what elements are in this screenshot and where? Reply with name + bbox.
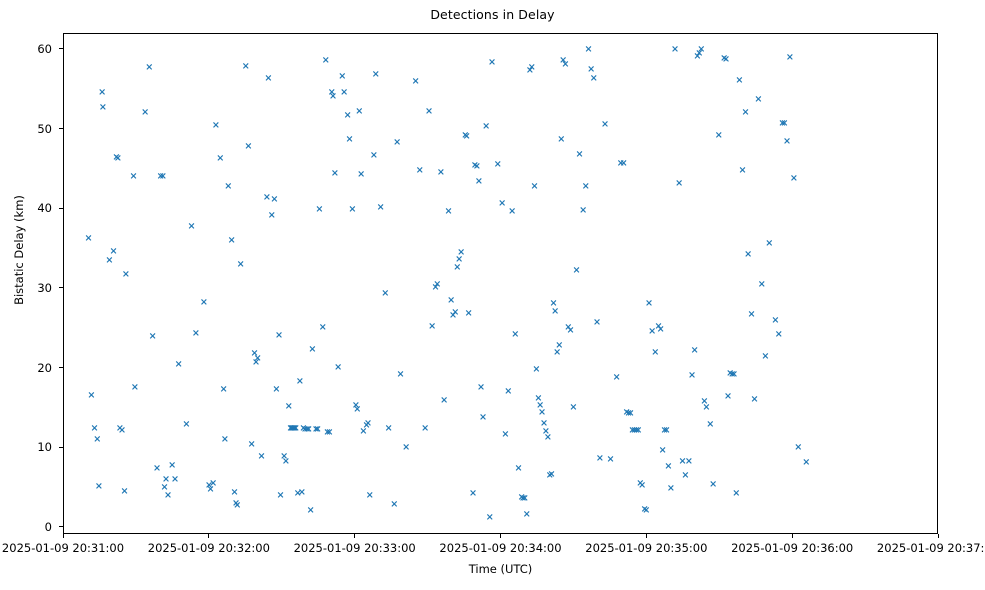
scatter-point: × [256, 364, 257, 365]
scatter-point: × [798, 448, 799, 449]
scatter-point: × [415, 83, 416, 84]
scatter-point: × [477, 168, 478, 169]
x-tick-mark [208, 534, 209, 538]
scatter-point: × [272, 216, 273, 217]
scatter-point: × [726, 60, 727, 61]
scatter-point: × [481, 388, 482, 389]
scatter-point: × [246, 67, 247, 68]
scatter-point: × [532, 68, 533, 69]
scatter-point: × [312, 350, 313, 351]
scatter-point: × [769, 244, 770, 245]
scatter-point: × [406, 448, 407, 449]
scatter-point: × [787, 142, 788, 143]
scatter-point: × [118, 159, 119, 160]
scatter-point: × [361, 176, 362, 177]
scatter-point: × [168, 497, 169, 498]
scatter-point: × [765, 357, 766, 358]
scatter-point: × [662, 451, 663, 452]
scatter-point: × [468, 314, 469, 315]
scatter-point: × [588, 51, 589, 52]
scatter-point: × [237, 506, 238, 507]
scatter-point: × [512, 212, 513, 213]
x-tick-mark [354, 534, 355, 538]
scatter-point: × [420, 172, 421, 173]
scatter-point: × [347, 117, 348, 118]
scatter-point: × [437, 285, 438, 286]
scatter-point: × [394, 506, 395, 507]
x-axis-label: Time (UTC) [63, 562, 938, 576]
scatter-point: × [329, 433, 330, 434]
scatter-point: × [429, 113, 430, 114]
scatter-point: × [124, 493, 125, 494]
scatter-point: × [565, 65, 566, 66]
scatter-point: × [483, 418, 484, 419]
scatter-point: × [668, 467, 669, 468]
x-tick-mark [646, 534, 647, 538]
scatter-point: × [257, 359, 258, 360]
scatter-point: × [333, 98, 334, 99]
scatter-point: × [457, 268, 458, 269]
scatter-point: × [448, 212, 449, 213]
scatter-point: × [502, 204, 503, 205]
scatter-point: × [376, 75, 377, 76]
scatter-point: × [542, 413, 543, 414]
scatter-point: × [302, 494, 303, 495]
scatter-point: × [555, 313, 556, 314]
scatter-point: × [660, 330, 661, 331]
scatter-point: × [368, 424, 369, 425]
scatter-point: × [706, 408, 707, 409]
y-tick-mark [59, 526, 63, 527]
scatter-point: × [91, 396, 92, 397]
scatter-point: × [191, 228, 192, 229]
scatter-point: × [624, 165, 625, 166]
scatter-point: × [300, 383, 301, 384]
scatter-point: × [790, 58, 791, 59]
scatter-point: × [326, 61, 327, 62]
x-tick-label: 2025-01-09 20:33:00 [294, 541, 416, 555]
x-tick-mark [63, 534, 64, 538]
scatter-point: × [467, 138, 468, 139]
scatter-point: × [309, 431, 310, 432]
scatter-point: × [536, 370, 537, 371]
scatter-point: × [605, 126, 606, 127]
scatter-point: × [99, 487, 100, 488]
scatter-point: × [213, 485, 214, 486]
scatter-point: × [204, 303, 205, 304]
x-tick-label: 2025-01-09 20:32:00 [148, 541, 270, 555]
scatter-point: × [518, 470, 519, 471]
scatter-point: × [228, 188, 229, 189]
scatter-point: × [231, 241, 232, 242]
scatter-point: × [675, 51, 676, 52]
scatter-point: × [583, 212, 584, 213]
scatter-point: × [133, 177, 134, 178]
scatter-point: × [344, 94, 345, 95]
scatter-point: × [240, 266, 241, 267]
scatter-point: × [505, 435, 506, 436]
scatter-point: × [751, 315, 752, 316]
scatter-point: × [616, 379, 617, 380]
scatter-point: × [570, 331, 571, 332]
scatter-point: × [806, 463, 807, 464]
scatter-point: × [186, 425, 187, 426]
scatter-point: × [748, 255, 749, 256]
scatter-point: × [109, 262, 110, 263]
scatter-point: × [349, 141, 350, 142]
x-tick-label: 2025-01-09 20:35:00 [585, 541, 707, 555]
scatter-point: × [210, 490, 211, 491]
scatter-point: × [784, 125, 785, 126]
scatter-point: × [689, 463, 690, 464]
y-tick-mark [59, 208, 63, 209]
y-axis-label: Bistatic Delay (km) [12, 140, 26, 360]
scatter-point: × [739, 82, 740, 83]
scatter-point: × [745, 114, 746, 115]
scatter-point: × [113, 252, 114, 253]
scatter-point: × [573, 408, 574, 409]
scatter-point: × [296, 430, 297, 431]
scatter-point: × [289, 408, 290, 409]
scatter-point: × [594, 79, 595, 80]
scatter-point: × [754, 400, 755, 401]
scatter-point: × [591, 71, 592, 72]
scatter-point: × [274, 200, 275, 201]
y-tick-mark [59, 447, 63, 448]
scatter-point: × [561, 141, 562, 142]
scatter-point: × [579, 156, 580, 157]
y-tick-label: 40 [0, 201, 52, 215]
scatter-point: × [352, 211, 353, 212]
scatter-point: × [758, 100, 759, 101]
scatter-point: × [713, 486, 714, 487]
y-tick-mark [59, 287, 63, 288]
scatter-point: × [122, 431, 123, 432]
y-tick-label: 10 [0, 440, 52, 454]
y-tick-label: 30 [0, 281, 52, 295]
scatter-point: × [671, 490, 672, 491]
scatter-point: × [234, 494, 235, 495]
scatter-point: × [692, 377, 693, 378]
scatter-point: × [103, 108, 104, 109]
scatter-point: × [94, 430, 95, 431]
scatter-point: × [490, 518, 491, 519]
scatter-point: × [794, 179, 795, 180]
scatter-point: × [630, 415, 631, 416]
scatter-point: × [451, 302, 452, 303]
scatter-point: × [486, 127, 487, 128]
scatter-point: × [400, 376, 401, 377]
scatter-point: × [97, 440, 98, 441]
scatter-point: × [135, 388, 136, 389]
scatter-point: × [359, 113, 360, 114]
x-tick-label: 2025-01-09 20:36:00 [731, 541, 853, 555]
scatter-point: × [342, 78, 343, 79]
x-tick-label: 2025-01-09 20:31:00 [2, 541, 124, 555]
scatter-points-layer: ××××××××××××××××××××××××××××××××××××××××… [64, 34, 937, 533]
chart-title: Detections in Delay [0, 7, 985, 22]
scatter-point: × [638, 431, 639, 432]
scatter-point: × [461, 253, 462, 254]
y-tick-label: 20 [0, 361, 52, 375]
y-tick-label: 50 [0, 122, 52, 136]
scatter-point: × [268, 79, 269, 80]
scatter-point: × [335, 174, 336, 175]
scatter-point: × [597, 323, 598, 324]
scatter-point: × [432, 327, 433, 328]
scatter-point: × [559, 346, 560, 347]
scatter-point: × [323, 328, 324, 329]
scatter-point: × [679, 185, 680, 186]
scatter-point: × [734, 375, 735, 376]
scatter-point: × [385, 294, 386, 295]
scatter-point: × [175, 481, 176, 482]
scatter-point: × [388, 430, 389, 431]
scatter-point: × [338, 369, 339, 370]
y-tick-mark [59, 128, 63, 129]
scatter-point: × [102, 94, 103, 95]
scatter-point: × [319, 210, 320, 211]
scatter-point: × [701, 51, 702, 52]
scatter-point: × [286, 463, 287, 464]
scatter-point: × [515, 335, 516, 336]
scatter-point: × [742, 172, 743, 173]
scatter-point: × [149, 68, 150, 69]
scatter-point: × [145, 114, 146, 115]
scatter-point: × [685, 477, 686, 478]
scatter-point: × [576, 271, 577, 272]
scatter-point: × [163, 177, 164, 178]
x-tick-label: 2025-01-09 20:34:00 [439, 541, 561, 555]
x-tick-label: 2025-01-09 20:37:00 [877, 541, 985, 555]
scatter-point: × [642, 486, 643, 487]
scatter-point: × [425, 429, 426, 430]
scatter-point: × [455, 314, 456, 315]
scatter-point: × [157, 470, 158, 471]
scatter-point: × [666, 431, 667, 432]
scatter-point: × [459, 260, 460, 261]
scatter-point: × [251, 446, 252, 447]
y-tick-label: 60 [0, 42, 52, 56]
scatter-point: × [525, 499, 526, 500]
scatter-point: × [267, 199, 268, 200]
scatter-point: × [357, 410, 358, 411]
scatter-point: × [682, 463, 683, 464]
scatter-point: × [646, 511, 647, 512]
scatter-point: × [276, 390, 277, 391]
scatter-point: × [762, 286, 763, 287]
scatter-point: × [508, 392, 509, 393]
scatter-point: × [551, 475, 552, 476]
scatter-point: × [310, 511, 311, 512]
scatter-point: × [370, 496, 371, 497]
scatter-point: × [719, 136, 720, 137]
matplotlib-figure: Detections in Delay ××××××××××××××××××××… [0, 0, 985, 590]
scatter-point: × [225, 440, 226, 441]
scatter-point: × [775, 322, 776, 323]
scatter-point: × [444, 401, 445, 402]
scatter-point: × [655, 353, 656, 354]
scatter-point: × [492, 63, 493, 64]
scatter-point: × [441, 173, 442, 174]
scatter-point: × [397, 143, 398, 144]
scatter-point: × [126, 275, 127, 276]
scatter-point: × [178, 365, 179, 366]
scatter-point: × [216, 126, 217, 127]
scatter-point: × [779, 335, 780, 336]
scatter-point: × [280, 496, 281, 497]
scatter-point: × [223, 391, 224, 392]
x-tick-mark [792, 534, 793, 538]
scatter-point: × [318, 431, 319, 432]
scatter-point: × [586, 188, 587, 189]
scatter-point: × [534, 188, 535, 189]
x-tick-mark [500, 534, 501, 538]
scatter-point: × [548, 439, 549, 440]
y-tick-mark [59, 48, 63, 49]
scatter-point: × [279, 337, 280, 338]
scatter-point: × [728, 397, 729, 398]
scatter-point: × [172, 467, 173, 468]
scatter-point: × [380, 208, 381, 209]
scatter-point: × [152, 337, 153, 338]
scatter-point: × [196, 334, 197, 335]
scatter-point: × [736, 494, 737, 495]
scatter-point: × [166, 480, 167, 481]
y-tick-mark [59, 367, 63, 368]
scatter-point: × [649, 305, 650, 306]
scatter-point: × [610, 460, 611, 461]
scatter-point: × [88, 240, 89, 241]
scatter-point: × [498, 165, 499, 166]
scatter-point: × [220, 159, 221, 160]
scatter-point: × [600, 459, 601, 460]
y-tick-label: 0 [0, 520, 52, 534]
scatter-point: × [652, 333, 653, 334]
plot-area: ××××××××××××××××××××××××××××××××××××××××… [63, 33, 938, 534]
scatter-point: × [248, 147, 249, 148]
scatter-point: × [261, 458, 262, 459]
scatter-point: × [527, 516, 528, 517]
scatter-point: × [479, 182, 480, 183]
scatter-point: × [557, 353, 558, 354]
scatter-point: × [374, 157, 375, 158]
scatter-point: × [473, 494, 474, 495]
x-tick-mark [938, 534, 939, 538]
scatter-point: × [710, 426, 711, 427]
scatter-point: × [694, 352, 695, 353]
scatter-point: × [553, 304, 554, 305]
scatter-point: × [363, 432, 364, 433]
